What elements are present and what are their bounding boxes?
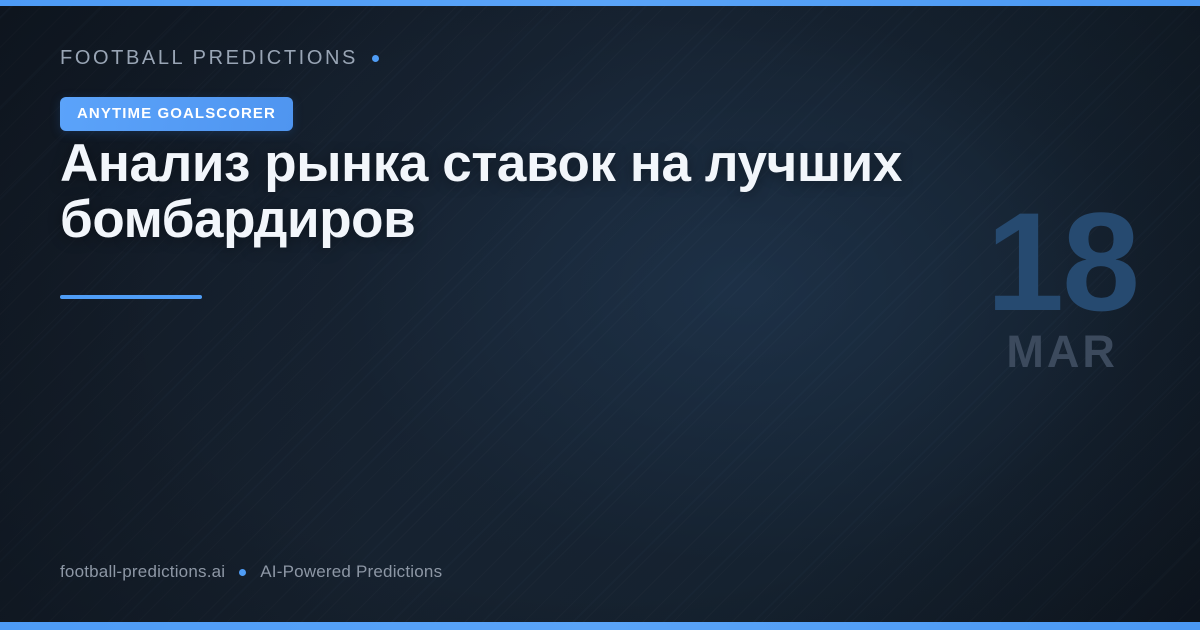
- title-accent-rule: [60, 295, 202, 299]
- og-card: 18 MAR FOOTBALL PREDICTIONS ANYTIME GOAL…: [0, 0, 1200, 630]
- kicker: FOOTBALL PREDICTIONS: [60, 47, 379, 70]
- bullet-dot-icon: [239, 569, 246, 576]
- footer-site-url[interactable]: football-predictions.ai: [60, 562, 225, 582]
- date-month: MAR: [986, 329, 1138, 374]
- date-badge: 18 MAR: [986, 198, 1138, 374]
- content-column: FOOTBALL PREDICTIONS ANYTIME GOALSCORER …: [60, 0, 960, 630]
- category-badge[interactable]: ANYTIME GOALSCORER: [60, 97, 293, 131]
- date-day: 18: [986, 198, 1138, 327]
- bullet-dot-icon: [372, 55, 379, 62]
- accent-bar-bottom: [0, 622, 1200, 630]
- kicker-label: FOOTBALL PREDICTIONS: [60, 47, 358, 70]
- page-title: Анализ рынка ставок на лучших бомбардиро…: [60, 136, 950, 248]
- accent-bar-top: [0, 0, 1200, 6]
- footer-tagline: AI-Powered Predictions: [260, 562, 442, 582]
- footer: football-predictions.ai AI-Powered Predi…: [60, 562, 442, 582]
